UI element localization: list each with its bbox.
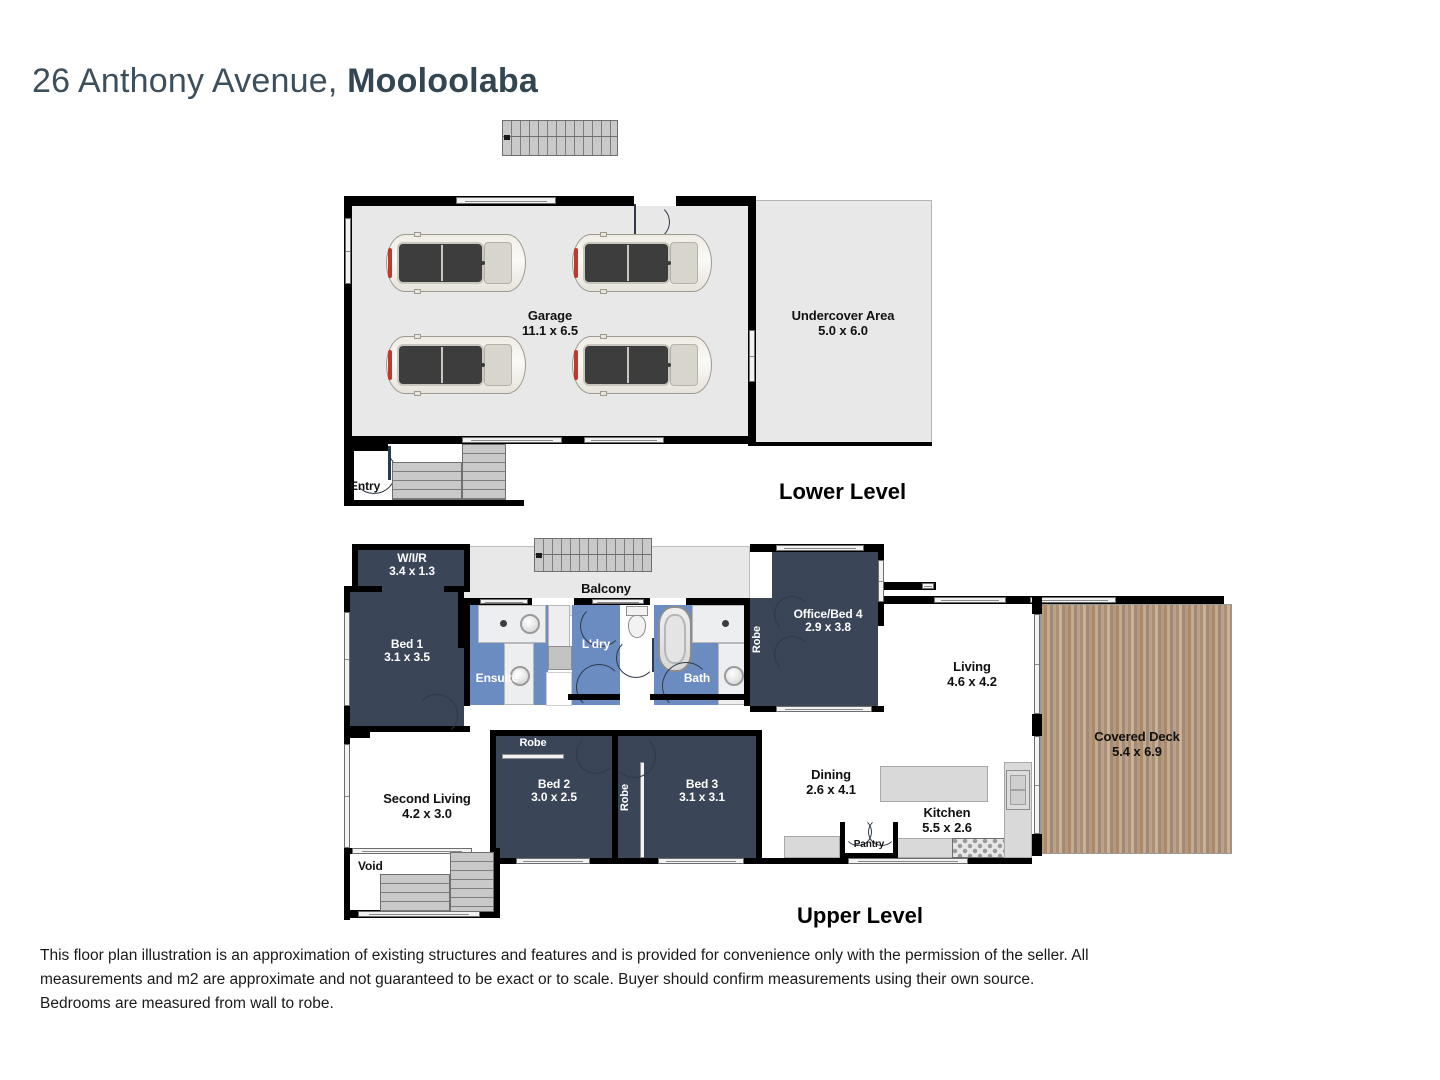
window-bed2-bottom <box>516 858 590 864</box>
stairs-void-right <box>450 852 494 912</box>
window-garage-bottom-2 <box>584 437 664 443</box>
toilet-fixture <box>626 606 648 638</box>
window-garage-bottom-1 <box>462 437 562 443</box>
stairs-upper <box>534 538 652 572</box>
bath-tap <box>722 620 729 627</box>
door-arc-bath <box>662 662 710 710</box>
label-office-bed4: Office/Bed 4 2.9 x 3.8 <box>778 608 878 635</box>
label-robe-office: Robe <box>751 626 771 653</box>
door-arc-laundry-bottom <box>576 664 622 710</box>
window-deck-slider-2 <box>1034 736 1040 834</box>
label-garage: Garage 11.1 x 6.5 <box>480 309 620 338</box>
window-living-top-2 <box>1030 597 1116 603</box>
label-pantry: Pantry <box>844 839 894 850</box>
car-1 <box>386 234 526 292</box>
dining-bench <box>784 836 840 858</box>
window-bath <box>592 599 644 604</box>
door-arc-bed3 <box>612 734 656 778</box>
label-dining: Dining 2.6 x 4.1 <box>776 768 886 797</box>
robe-bed2-bar <box>502 754 564 759</box>
page-title: 26 Anthony Avenue, Mooloolaba <box>32 62 538 101</box>
label-robe-bed3: Robe <box>619 784 641 811</box>
floorplan-page: 26 Anthony Avenue, Mooloolaba <box>0 0 1440 1080</box>
label-lower-level: Lower Level <box>779 479 906 505</box>
door-arc-bed1 <box>416 694 458 736</box>
ensuite-tap <box>500 620 507 627</box>
label-void: Void <box>358 860 412 873</box>
stairs-entry-upper <box>462 444 506 500</box>
label-laundry: L'dry <box>570 638 622 651</box>
kitchen-island <box>880 766 988 802</box>
label-undercover-area: Undercover Area 5.0 x 6.0 <box>770 309 916 338</box>
stairs-void-left <box>380 874 450 912</box>
window-deck-slider-1 <box>1034 614 1040 714</box>
label-bed3: Bed 3 3.1 x 3.1 <box>652 778 752 805</box>
ensuite-basin-1 <box>520 614 540 634</box>
window-garage-right <box>749 330 755 382</box>
window-second-living <box>344 744 350 848</box>
label-robe-bed2: Robe <box>502 737 564 749</box>
door-arc-wc <box>616 638 656 678</box>
window-kitchen-bottom <box>848 858 968 864</box>
top-stair-graphic <box>502 120 618 156</box>
wall-undercover-bottom <box>748 442 932 446</box>
wall-garage-right <box>748 196 756 444</box>
car-3 <box>386 336 526 394</box>
bath-vanity <box>692 605 750 643</box>
upper-level-plan: Balcony 7.4 x 1.2 W/I/R 3.4 x 1.3 Bed 1 … <box>344 538 1244 920</box>
label-ensuite: Ensuite <box>462 672 532 685</box>
window-office-bottom <box>776 706 872 712</box>
label-kitchen: Kitchen 5.5 x 2.6 <box>892 806 1002 835</box>
entry-block: Entry <box>344 444 524 506</box>
label-upper-level: Upper Level <box>797 903 923 929</box>
window-bed1 <box>344 612 350 706</box>
label-living: Living 4.6 x 4.2 <box>912 660 1032 689</box>
car-4 <box>572 336 712 394</box>
label-wir: W/I/R 3.4 x 1.3 <box>362 552 462 579</box>
car-2 <box>572 234 712 292</box>
laundry-appliance <box>548 646 572 670</box>
window-hall-right <box>922 583 934 589</box>
label-second-living: Second Living 4.2 x 3.0 <box>362 792 492 821</box>
window-garage-left <box>345 218 351 284</box>
window-living-top <box>934 597 1006 603</box>
label-bath: Bath <box>662 672 732 685</box>
title-suburb: Mooloolaba <box>347 62 538 100</box>
window-ensuite <box>480 599 528 604</box>
pantry-unit: Pantry <box>840 822 898 858</box>
window-office-top <box>776 545 864 551</box>
window-garage-top <box>456 197 556 204</box>
lower-level-plan: Garage 11.1 x 6.5 Undercover Area 5.0 x … <box>344 196 936 506</box>
window-bed3-bottom <box>658 858 744 864</box>
label-bed1: Bed 1 3.1 x 3.5 <box>356 638 458 665</box>
door-arc-bed2 <box>576 734 616 774</box>
door-arc-office-2 <box>774 636 810 672</box>
disclaimer-text: This floor plan illustration is an appro… <box>40 944 1100 1016</box>
label-bed2: Bed 2 3.0 x 2.5 <box>502 778 606 805</box>
label-covered-deck: Covered Deck 5.4 x 6.9 <box>1074 730 1200 759</box>
label-entry: Entry <box>350 480 404 493</box>
title-street: 26 Anthony Avenue, <box>32 62 347 100</box>
kitchen-sink <box>1006 770 1030 810</box>
